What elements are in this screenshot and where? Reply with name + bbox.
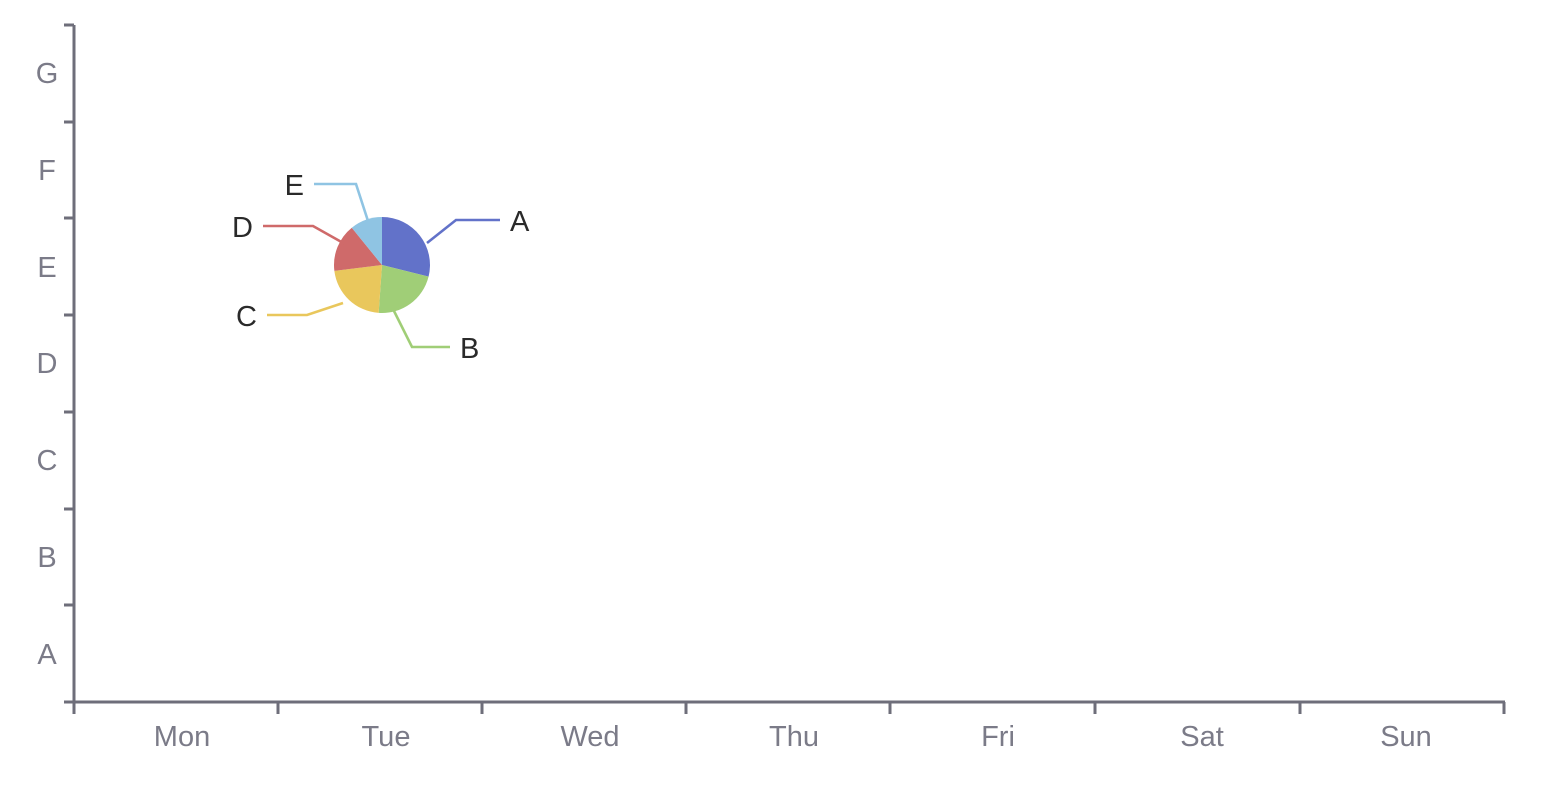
y-tick-label: F — [38, 155, 56, 187]
axis-lines — [74, 25, 1505, 702]
x-tick-label: Fri — [981, 721, 1015, 753]
pie-label-c: C — [236, 301, 257, 333]
y-tick-label: C — [37, 445, 58, 477]
pie-series — [334, 217, 430, 313]
x-tick-label: Sun — [1380, 721, 1432, 753]
y-tick-label: E — [37, 252, 56, 284]
x-tick-label: Wed — [560, 721, 619, 753]
pie-label-d: D — [232, 212, 253, 244]
y-tick-label: A — [37, 639, 57, 671]
leader-line-d — [263, 226, 345, 244]
y-tick-label: D — [37, 348, 58, 380]
pie-chart-figure: G F E D C B A Mon Tue Wed Thu Fri Sat — [0, 0, 1545, 785]
x-axis-tick-labels: Mon Tue Wed Thu Fri Sat Sun — [154, 721, 1432, 753]
pie-slice-c[interactable] — [334, 265, 382, 313]
pie-label-b: B — [460, 333, 479, 365]
leader-line-a — [427, 220, 500, 243]
y-axis-tick-labels: G F E D C B A — [36, 58, 59, 671]
y-tick-label: G — [36, 58, 59, 90]
pie-label-a: A — [510, 206, 530, 238]
x-tick-label: Tue — [362, 721, 411, 753]
x-axis-ticks — [74, 702, 1504, 714]
leader-line-b — [394, 311, 450, 347]
chart-canvas: G F E D C B A Mon Tue Wed Thu Fri Sat — [0, 0, 1545, 785]
leader-line-e — [314, 184, 368, 221]
x-tick-label: Thu — [769, 721, 819, 753]
x-tick-label: Mon — [154, 721, 210, 753]
y-tick-label: B — [37, 542, 56, 574]
leader-line-c — [267, 303, 343, 315]
x-tick-label: Sat — [1180, 721, 1224, 753]
pie-label-e: E — [285, 170, 304, 202]
